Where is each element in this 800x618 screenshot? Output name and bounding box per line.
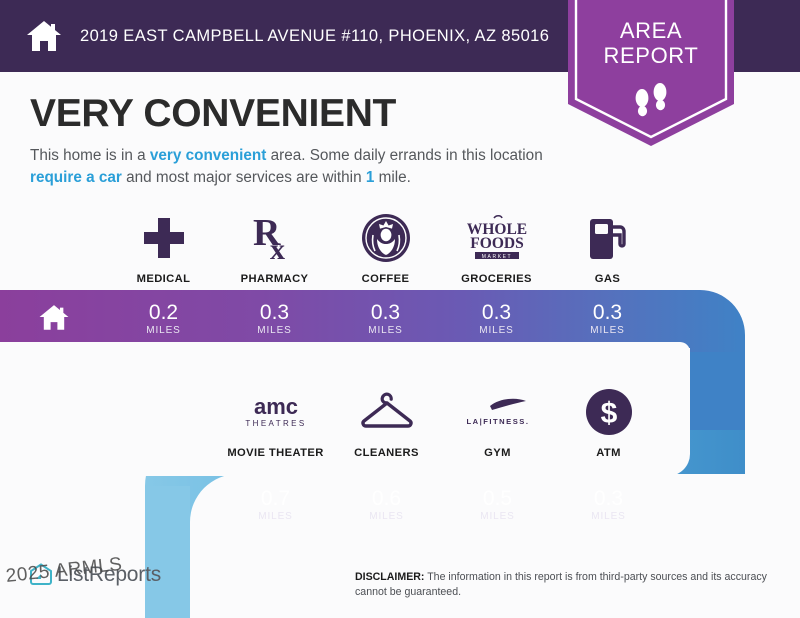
distance-unit: MILES bbox=[258, 511, 293, 522]
distance-value: 0.3 bbox=[260, 302, 289, 324]
home-icon bbox=[37, 300, 71, 339]
amenity-cleaners: CLEANERS bbox=[331, 386, 442, 459]
amenity-label: PHARMACY bbox=[241, 273, 309, 285]
area-report-page: 2019 EAST CAMPBELL AVENUE #110, PHOENIX,… bbox=[0, 0, 800, 618]
amenity-gym: LA|FITNESS. GYM bbox=[442, 386, 553, 459]
distance-bar-top: 0.2 MILES 0.3 MILES 0.3 MILES 0.3 MILES … bbox=[0, 290, 663, 348]
amenity-icon-row-top: MEDICAL R x PHARMACY bbox=[108, 212, 663, 285]
distance-unit: MILES bbox=[146, 325, 181, 336]
svg-text:x: x bbox=[270, 233, 285, 263]
listreports-house-icon bbox=[28, 562, 54, 588]
listreports-logo: ListReports bbox=[28, 560, 161, 590]
property-address: 2019 EAST CAMPBELL AVENUE #110, PHOENIX,… bbox=[80, 27, 549, 46]
distance-value: 0.2 bbox=[149, 302, 178, 324]
amenity-icon-row-bottom: amc THEATRES MOVIE THEATER CLEANERS LA|F… bbox=[220, 386, 664, 459]
distance-value: 0.6 bbox=[372, 488, 401, 510]
amenity-groceries: WHOLE FOODS MARKET GROCERIES bbox=[441, 212, 552, 285]
amenity-label: GROCERIES bbox=[461, 273, 532, 285]
area-report-banner: AREA REPORT bbox=[568, 0, 734, 146]
distance-cell: 0.3 MILES bbox=[553, 476, 664, 534]
summary-description: This home is in a very convenient area. … bbox=[30, 145, 575, 189]
amenity-label: CLEANERS bbox=[354, 447, 419, 459]
desc-text-4: mile. bbox=[374, 169, 411, 186]
distance-cell: 0.3 MILES bbox=[552, 290, 663, 348]
desc-text-2: area. Some daily errands in this locatio… bbox=[266, 147, 542, 164]
svg-text:THEATRES: THEATRES bbox=[245, 419, 306, 428]
svg-text:LA|FITNESS.: LA|FITNESS. bbox=[466, 417, 529, 426]
distance-value: 0.5 bbox=[483, 488, 512, 510]
page-title: VERY CONVENIENT bbox=[30, 92, 396, 136]
svg-text:MARKET: MARKET bbox=[481, 254, 511, 260]
svg-text:$: $ bbox=[600, 397, 617, 430]
amenity-label: ATM bbox=[596, 447, 621, 459]
distance-cell: 0.2 MILES bbox=[108, 290, 219, 348]
distance-unit: MILES bbox=[590, 325, 625, 336]
desc-text-3: and most major services are within bbox=[122, 169, 366, 186]
amenity-pharmacy: R x PHARMACY bbox=[219, 212, 330, 285]
medical-cross-icon bbox=[140, 212, 188, 264]
distance-bar-bottom: 0.7 MILES 0.6 MILES 0.5 MILES 0.3 MILES bbox=[220, 476, 664, 534]
distance-value: 0.3 bbox=[594, 488, 623, 510]
amenity-label: GAS bbox=[595, 273, 620, 285]
disclaimer-label: DISCLAIMER: bbox=[355, 571, 424, 583]
svg-text:FOODS: FOODS bbox=[470, 235, 523, 252]
svg-text:amc: amc bbox=[253, 394, 297, 419]
ribbon-home-icon-cell bbox=[0, 290, 108, 348]
desc-text-1: This home is in a bbox=[30, 147, 150, 164]
distance-value: 0.3 bbox=[371, 302, 400, 324]
banner-line-1: AREA bbox=[568, 18, 734, 43]
amenity-gas: GAS bbox=[552, 212, 663, 285]
distance-unit: MILES bbox=[591, 511, 626, 522]
amenity-label: MEDICAL bbox=[137, 273, 191, 285]
distance-unit: MILES bbox=[480, 511, 515, 522]
starbucks-icon bbox=[361, 212, 411, 264]
distance-unit: MILES bbox=[368, 325, 403, 336]
rx-icon: R x bbox=[251, 212, 299, 264]
banner-label: AREA REPORT bbox=[568, 18, 734, 68]
distance-unit: MILES bbox=[369, 511, 404, 522]
banner-line-2: REPORT bbox=[568, 43, 734, 68]
distance-unit: MILES bbox=[257, 325, 292, 336]
desc-highlight-2: require a car bbox=[30, 169, 122, 186]
amenity-label: COFFEE bbox=[362, 273, 410, 285]
disclaimer: DISCLAIMER: The information in this repo… bbox=[355, 570, 775, 599]
amc-theatres-icon: amc THEATRES bbox=[240, 386, 312, 438]
listreports-logo-text: ListReports bbox=[57, 563, 161, 587]
distance-cell: 0.3 MILES bbox=[441, 290, 552, 348]
whole-foods-icon: WHOLE FOODS MARKET bbox=[464, 212, 530, 264]
la-fitness-icon: LA|FITNESS. bbox=[460, 386, 536, 438]
gas-pump-icon bbox=[586, 212, 630, 264]
home-icon bbox=[22, 14, 66, 58]
distance-cell: 0.6 MILES bbox=[331, 476, 442, 534]
distance-value: 0.3 bbox=[593, 302, 622, 324]
dollar-circle-icon: $ bbox=[585, 386, 633, 438]
distance-cell: 0.3 MILES bbox=[219, 290, 330, 348]
amenity-coffee: COFFEE bbox=[330, 212, 441, 285]
distance-cell: 0.7 MILES bbox=[220, 476, 331, 534]
desc-highlight-1: very convenient bbox=[150, 147, 266, 164]
distance-value: 0.7 bbox=[261, 488, 290, 510]
amenity-label: GYM bbox=[484, 447, 511, 459]
amenity-movie-theater: amc THEATRES MOVIE THEATER bbox=[220, 386, 331, 459]
distance-cell: 0.3 MILES bbox=[330, 290, 441, 348]
amenity-atm: $ ATM bbox=[553, 386, 664, 459]
amenity-medical: MEDICAL bbox=[108, 212, 219, 285]
distance-cell: 0.5 MILES bbox=[442, 476, 553, 534]
distance-unit: MILES bbox=[479, 325, 514, 336]
distance-value: 0.3 bbox=[482, 302, 511, 324]
hanger-icon bbox=[359, 386, 415, 438]
amenity-label: MOVIE THEATER bbox=[227, 447, 323, 459]
